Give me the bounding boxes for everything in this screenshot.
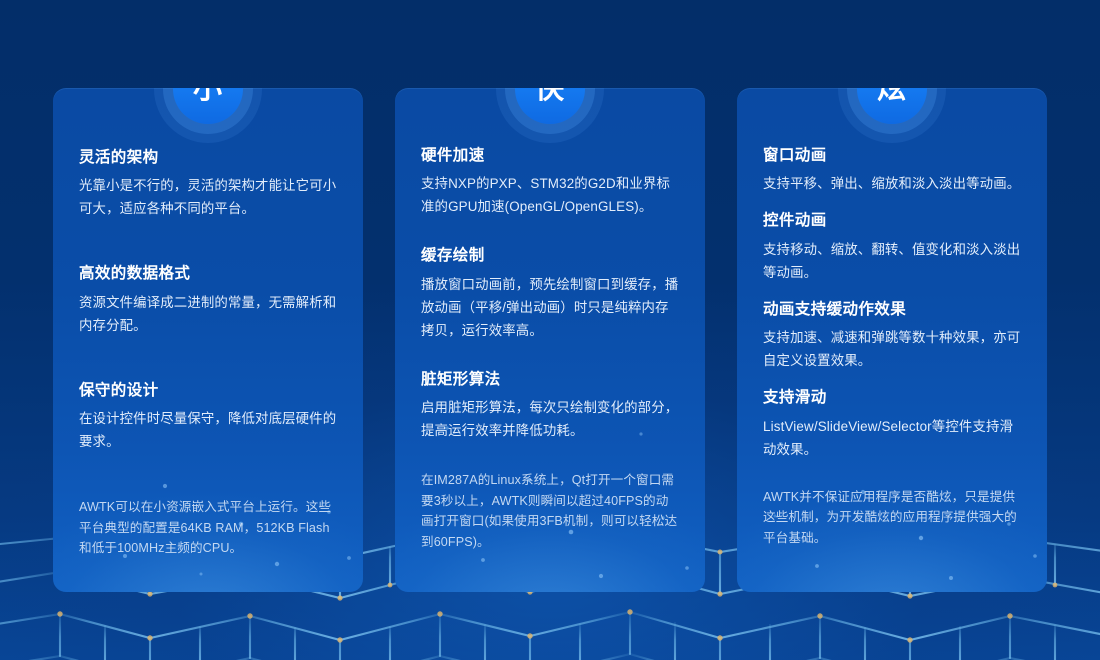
feature-title: 硬件加速 [421, 146, 679, 165]
card-note-wrap: 在IM287A的Linux系统上，Qt打开一个窗口需要3秒以上，AWTK则瞬间以… [421, 470, 679, 552]
feature-item: 硬件加速 支持NXP的PXP、STM32的G2D和业界标准的GPU加速(Open… [421, 146, 679, 218]
card-content-2: 硬件加速 支持NXP的PXP、STM32的G2D和业界标准的GPU加速(Open… [395, 88, 705, 552]
feature-title: 灵活的架构 [79, 148, 337, 167]
feature-title: 缓存绘制 [421, 246, 679, 265]
feature-item: 缓存绘制 播放窗口动画前，预先绘制窗口到缓存，播放动画（平移/弹出动画）时只是纯… [421, 246, 679, 342]
card-note: AWTK并不保证应用程序是否酷炫，只是提供这些机制，为开发酷炫的应用程序提供强大… [763, 487, 1021, 548]
feature-item: 窗口动画 支持平移、弹出、缩放和淡入淡出等动画。 [763, 146, 1021, 195]
feature-body: 支持NXP的PXP、STM32的G2D和业界标准的GPU加速(OpenGL/Op… [421, 172, 679, 218]
feature-title: 窗口动画 [763, 146, 1021, 165]
feature-item: 支持滑动 ListView/SlideView/Selector等控件支持滑动效… [763, 388, 1021, 460]
feature-item: 高效的数据格式 资源文件编译成二进制的常量，无需解析和内存分配。 [79, 264, 337, 336]
feature-body: 启用脏矩形算法，每次只绘制变化的部分，提高运行效率并降低功耗。 [421, 396, 679, 442]
feature-title: 脏矩形算法 [421, 370, 679, 389]
feature-title: 支持滑动 [763, 388, 1021, 407]
badge-label: 炫 [877, 88, 907, 104]
card-note-wrap: AWTK可以在小资源嵌入式平台上运行。这些平台典型的配置是64KB RAM，51… [79, 497, 337, 558]
feature-card-row: 小 灵活的架构 光靠小是不行的，灵活的架构才能让它可小可大，适应各种不同的平台。… [0, 0, 1100, 660]
feature-item: 灵活的架构 光靠小是不行的，灵活的架构才能让它可小可大，适应各种不同的平台。 [79, 148, 337, 220]
feature-body: 在设计控件时尽量保守，降低对底层硬件的要求。 [79, 407, 337, 453]
feature-title: 控件动画 [763, 211, 1021, 230]
card-content-1: 灵活的架构 光靠小是不行的，灵活的架构才能让它可小可大，适应各种不同的平台。 高… [53, 88, 363, 559]
feature-body: 支持加速、减速和弹跳等数十种效果，亦可自定义设置效果。 [763, 326, 1021, 372]
badge-cool: 炫 [838, 88, 946, 143]
feature-title: 保守的设计 [79, 381, 337, 400]
feature-item: 动画支持缓动作效果 支持加速、减速和弹跳等数十种效果，亦可自定义设置效果。 [763, 300, 1021, 372]
card-note: 在IM287A的Linux系统上，Qt打开一个窗口需要3秒以上，AWTK则瞬间以… [421, 470, 679, 552]
feature-body: 支持移动、缩放、翻转、值变化和淡入淡出等动画。 [763, 238, 1021, 284]
badge-label: 快 [535, 88, 565, 104]
feature-body: 资源文件编译成二进制的常量，无需解析和内存分配。 [79, 291, 337, 337]
feature-item: 控件动画 支持移动、缩放、翻转、值变化和淡入淡出等动画。 [763, 211, 1021, 283]
feature-body: 播放窗口动画前，预先绘制窗口到缓存，播放动画（平移/弹出动画）时只是纯粹内存拷贝… [421, 273, 679, 342]
feature-title: 动画支持缓动作效果 [763, 300, 1021, 319]
feature-item: 脏矩形算法 启用脏矩形算法，每次只绘制变化的部分，提高运行效率并降低功耗。 [421, 370, 679, 442]
card-content-3: 窗口动画 支持平移、弹出、缩放和淡入淡出等动画。 控件动画 支持移动、缩放、翻转… [737, 88, 1047, 548]
card-note: AWTK可以在小资源嵌入式平台上运行。这些平台典型的配置是64KB RAM，51… [79, 497, 337, 558]
feature-body: ListView/SlideView/Selector等控件支持滑动效果。 [763, 415, 1021, 461]
feature-body: 光靠小是不行的，灵活的架构才能让它可小可大，适应各种不同的平台。 [79, 174, 337, 220]
feature-card-cool: 炫 窗口动画 支持平移、弹出、缩放和淡入淡出等动画。 控件动画 支持移动、缩放、… [737, 88, 1047, 592]
badge-small: 小 [154, 88, 262, 143]
feature-card-small: 小 灵活的架构 光靠小是不行的，灵活的架构才能让它可小可大，适应各种不同的平台。… [53, 88, 363, 592]
feature-card-fast: 快 硬件加速 支持NXP的PXP、STM32的G2D和业界标准的GPU加速(Op… [395, 88, 705, 592]
badge-fast: 快 [496, 88, 604, 143]
card-note-wrap: AWTK并不保证应用程序是否酷炫，只是提供这些机制，为开发酷炫的应用程序提供强大… [763, 487, 1021, 548]
badge-label: 小 [193, 88, 223, 104]
feature-body: 支持平移、弹出、缩放和淡入淡出等动画。 [763, 172, 1021, 195]
feature-title: 高效的数据格式 [79, 264, 337, 283]
feature-item: 保守的设计 在设计控件时尽量保守，降低对底层硬件的要求。 [79, 381, 337, 453]
